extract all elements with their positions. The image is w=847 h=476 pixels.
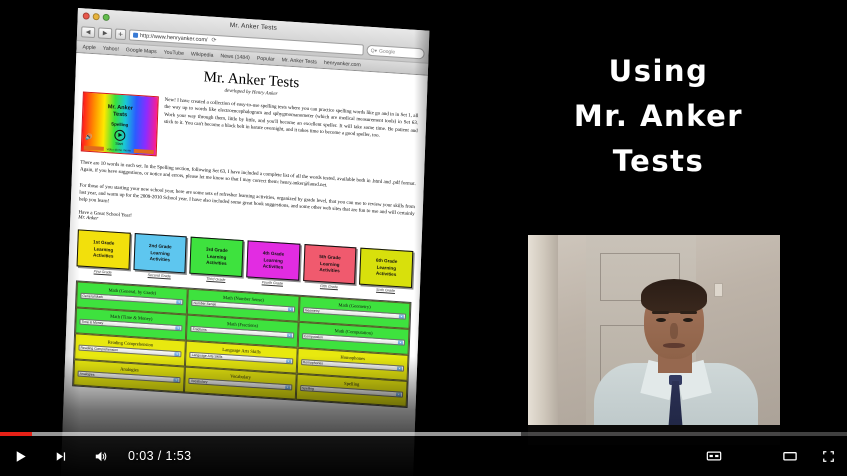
chevron-down-icon[interactable]: ▾ [287, 333, 292, 338]
chevron-down-icon[interactable]: ▾ [286, 359, 291, 364]
grade-box[interactable]: 1st GradeLearningActivities [77, 230, 131, 270]
grade-box[interactable]: 4th GradeLearningActivities [246, 241, 300, 281]
chevron-down-icon[interactable]: ▾ [177, 300, 182, 305]
nose [670, 323, 678, 339]
grade-link-1[interactable]: 1st GradeLearningActivitiesFirst Grade [76, 230, 130, 276]
category-select-value: Geometry [305, 308, 320, 313]
flash-play-button[interactable] [114, 130, 125, 142]
forward-icon[interactable]: ▶ [98, 27, 112, 39]
chevron-down-icon[interactable]: ▾ [396, 392, 401, 397]
volume-button[interactable] [80, 436, 120, 476]
curtain [528, 235, 558, 445]
time-display: 0:03 / 1:53 [128, 449, 191, 463]
eyebrow-left [652, 311, 669, 314]
settings-gear-icon[interactable] [733, 436, 771, 476]
title-line-3: Tests [470, 142, 847, 180]
chevron-down-icon[interactable]: ▾ [398, 340, 403, 345]
grade-link-3[interactable]: 3rd GradeLearningActivitiesThird Grade [189, 237, 243, 283]
chevron-down-icon[interactable]: ▾ [288, 307, 293, 312]
captions-button[interactable] [695, 436, 733, 476]
grade-caption[interactable]: Second Grade [133, 272, 186, 279]
page-content: Mr. Anker Tests developed by Henry Anker… [60, 53, 428, 476]
bookmark-item[interactable]: Popular [257, 55, 275, 62]
player-controls: 0:03 / 1:53 [0, 436, 847, 476]
grade-box-line: Activities [206, 260, 227, 268]
safari-window: Mr. Anker Tests ◀ ▶ + http://www.henryan… [60, 8, 430, 476]
back-icon[interactable]: ◀ [81, 26, 95, 38]
chevron-down-icon[interactable]: ▾ [174, 378, 179, 383]
bookmark-item[interactable]: Yahoo! [103, 45, 119, 52]
title-line-2: Mr. Anker [470, 97, 847, 135]
screencast-region: Mr. Anker Tests ◀ ▶ + http://www.henryan… [0, 0, 470, 476]
category-select-value: Homophones [303, 360, 323, 365]
grade-link-2[interactable]: 2nd GradeLearningActivitiesSecond Grade [133, 233, 187, 279]
title-line-1: Using [470, 52, 847, 90]
bookmark-item[interactable]: henryanker.com [324, 59, 361, 67]
flash-title: Mr. Anker Tests [85, 103, 155, 121]
grade-box[interactable]: 3rd GradeLearningActivities [190, 237, 244, 277]
category-select-value: Spelling [302, 386, 314, 391]
grade-box-line: Activities [263, 263, 284, 271]
eye-left [656, 318, 666, 322]
flash-subtitle: Spelling [85, 120, 155, 130]
video-title-overlay: Using Mr. Anker Tests [470, 52, 847, 180]
fullscreen-button[interactable] [809, 436, 847, 476]
grade-box[interactable]: 2nd GradeLearningActivities [133, 233, 187, 273]
grade-caption[interactable]: Third Grade [189, 276, 242, 283]
new-tab-icon[interactable]: + [115, 28, 126, 40]
grade-box[interactable]: 5th GradeLearningActivities [303, 244, 357, 284]
bookmark-item[interactable]: Wikipedia [191, 51, 214, 58]
category-select-value: Analogies [80, 372, 95, 377]
chevron-down-icon[interactable]: ▾ [285, 385, 290, 390]
chevron-down-icon[interactable]: ▾ [397, 366, 402, 371]
category-select-value: Time & Money [81, 320, 103, 325]
grade-link-6[interactable]: 6th GradeLearningActivitiesSixth Grade [359, 248, 413, 294]
intro-row: Mr. Anker Tests Spelling Start 🔊 video d… [81, 91, 419, 173]
search-icon: Q▾ [371, 47, 378, 53]
chevron-down-icon[interactable]: ▾ [176, 326, 181, 331]
presenter-hair [641, 279, 707, 313]
search-placeholder: Google [379, 48, 395, 55]
bookmark-item[interactable]: Google Maps [126, 47, 157, 55]
site-favicon-icon [133, 33, 138, 38]
grade-box[interactable]: 6th GradeLearningActivities [359, 248, 413, 288]
search-input[interactable]: Q▾ Google [366, 45, 424, 60]
grade-box-line: Activities [93, 252, 114, 260]
category-select-value: Fractions [193, 327, 207, 332]
category-select-value: Number Sense [194, 301, 217, 306]
speaker-icon[interactable]: 🔊 [85, 134, 93, 141]
address-bar-url: http://www.henryanker.com/ [140, 33, 208, 43]
grade-caption[interactable]: Fifth Grade [303, 283, 356, 290]
bookmark-item[interactable]: News (1484) [220, 53, 250, 61]
webcam-video [528, 235, 780, 445]
eyebrow-right [680, 311, 697, 314]
reload-icon[interactable]: ⟳ [211, 37, 216, 44]
spelling-flash-widget[interactable]: Mr. Anker Tests Spelling Start 🔊 video d… [81, 91, 159, 156]
grade-caption[interactable]: Fourth Grade [246, 280, 299, 287]
category-select-value: Computation [304, 334, 323, 339]
grade-caption[interactable]: First Grade [76, 269, 129, 276]
grade-link-5[interactable]: 5th GradeLearningActivitiesFifth Grade [303, 244, 357, 290]
mouth [663, 343, 685, 348]
grade-box-line: Activities [376, 271, 397, 279]
light-switch [714, 283, 723, 297]
grade-box-line: Activities [319, 267, 340, 275]
grade-box-line: Activities [150, 256, 171, 264]
grade-caption[interactable]: Sixth Grade [359, 287, 412, 294]
play-button[interactable] [0, 436, 40, 476]
bookmark-item[interactable]: Apple [82, 44, 95, 51]
category-select-value: Reading Comprehension [80, 346, 118, 352]
bookmark-item[interactable]: Mr. Anker Tests [282, 57, 318, 65]
category-grid: Math (General, by Grade)General Math▾Mat… [72, 281, 411, 409]
category-select-value: Language Arts Skills [192, 353, 223, 359]
eye-right [683, 318, 693, 322]
category-select-value: Vocabulary [191, 379, 208, 384]
next-video-button[interactable] [40, 436, 80, 476]
chevron-down-icon[interactable]: ▾ [175, 352, 180, 357]
chevron-down-icon[interactable]: ▾ [399, 314, 404, 319]
category-select-value: General Math [82, 294, 103, 299]
grade-link-4[interactable]: 4th GradeLearningActivitiesFourth Grade [246, 241, 300, 287]
video-player: Mr. Anker Tests ◀ ▶ + http://www.henryan… [0, 0, 847, 476]
theater-mode-button[interactable] [771, 436, 809, 476]
bookmark-item[interactable]: YouTube [164, 49, 185, 56]
